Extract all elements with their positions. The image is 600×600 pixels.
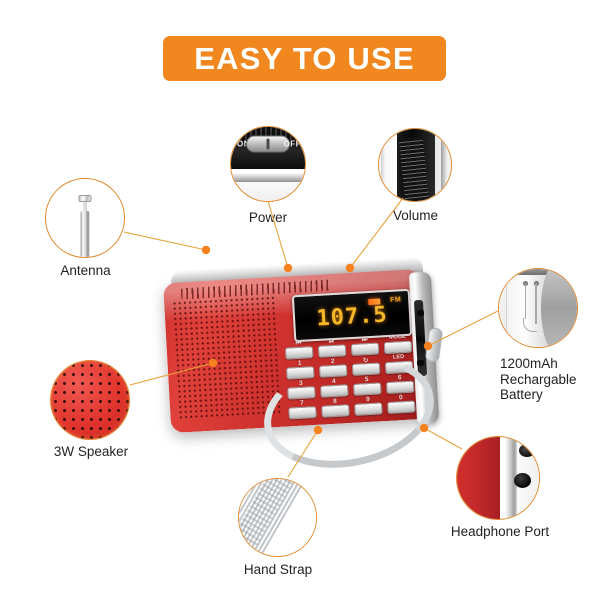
infographic-canvas: EASY TO USE [0,0,600,600]
page-title-banner: EASY TO USE [163,36,446,81]
volume-off-label: OFF [388,128,397,135]
switch-off-label: OFF [284,140,302,149]
callout-label-headphone-port: Headphone Port [437,524,563,540]
key-label: 1 [298,360,302,367]
callout-label-volume: Volume [368,208,463,224]
antenna-icon [79,195,92,258]
headphone-port-icon [456,436,500,520]
play-pause-button[interactable]: ⏯ [318,344,347,358]
frequency-readout: 107.5 [316,303,389,332]
antenna-bubble [45,178,125,258]
power-switch-icon: ON OFF [230,126,306,169]
mode-button[interactable]: MODE [384,341,413,355]
headphone-port-bubble [456,436,540,520]
hand-strap-icon [238,478,317,557]
next-track-button[interactable]: ⏭ [351,342,380,356]
volume-wheel-icon: OFF [378,128,452,202]
speaker-bubble [50,360,130,440]
hand-strap-bubble [238,478,317,557]
speaker-grille [172,295,282,419]
key-label: ⏮ [296,340,302,348]
key-label: ⏭ [361,336,367,344]
callout-label-antenna: Antenna [38,263,133,279]
prev-track-button[interactable]: ⏮ [285,346,314,360]
callout-label-power: Power [222,210,314,226]
page-title: EASY TO USE [194,43,415,74]
volume-bubble: OFF [378,128,452,202]
key-label: MODE [389,334,406,341]
tf-card-slot[interactable] [417,360,424,366]
callout-label-hand-strap: Hand Strap [228,562,328,578]
headphone-port[interactable] [417,310,424,316]
fm-band-indicator: FM [390,296,401,304]
radio-product-image: FM 107.5 ⏮⏯⏭MODE12↻LED34567890 [155,240,455,450]
battery-icon [498,268,578,348]
callout-label-battery: 1200mAh Rechargable Battery [500,356,600,403]
callout-label-speaker: 3W Speaker [38,444,144,460]
power-bubble: ON OFF [230,126,306,202]
usb-port[interactable] [417,336,424,342]
battery-bubble [498,268,578,348]
key-label: ⏯ [329,338,335,346]
